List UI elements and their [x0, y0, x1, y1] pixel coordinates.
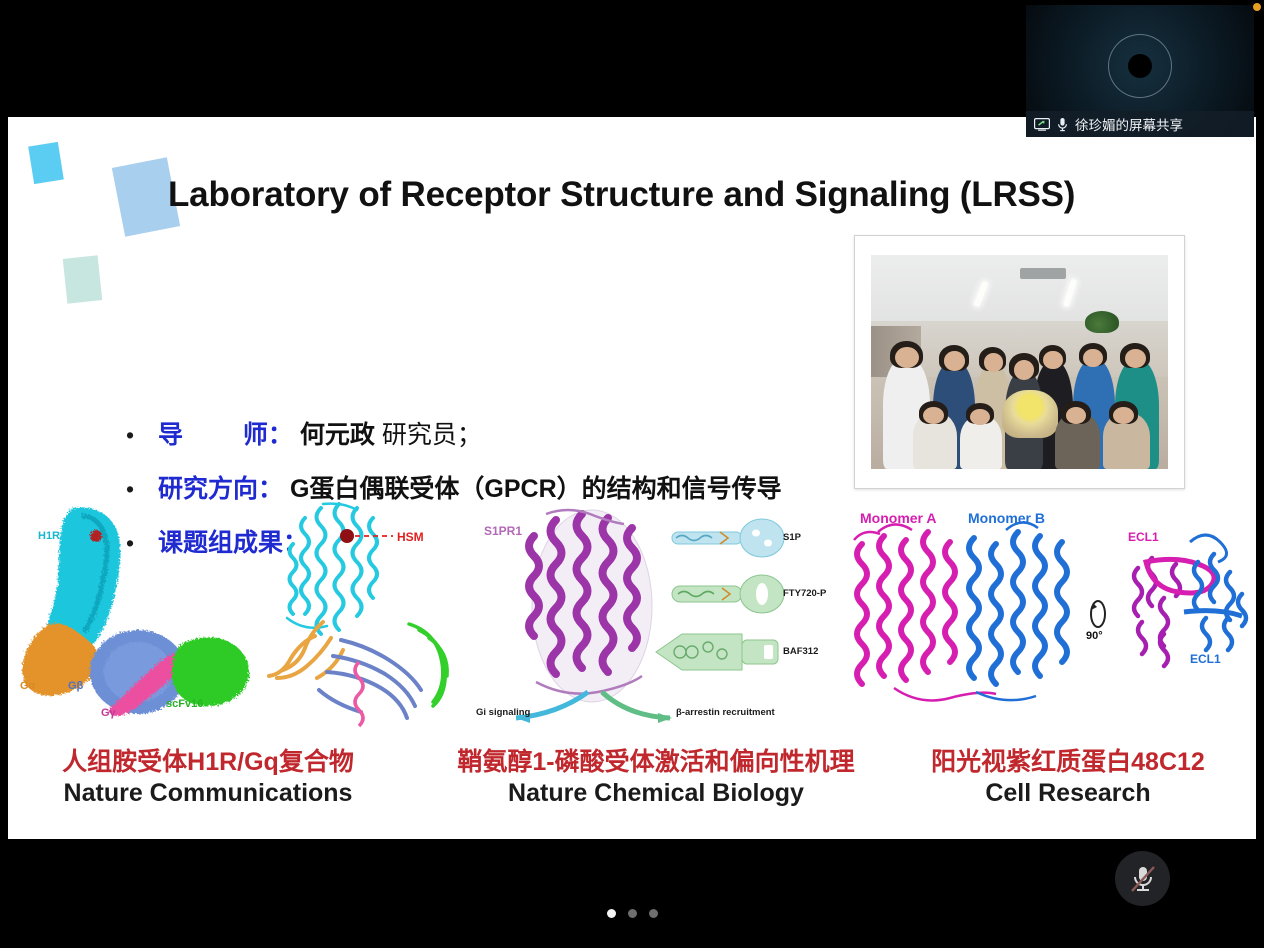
ligand-baf312 [656, 634, 778, 670]
decorative-square-cyan [28, 142, 64, 184]
advisor-name: 何元政 [300, 421, 375, 449]
figure-label-hsm: HSM [397, 530, 424, 544]
pagination-dot-3[interactable] [649, 909, 658, 918]
caption-journal-en: Nature Communications [32, 778, 384, 808]
pagination-dot-1[interactable] [607, 909, 616, 918]
participant-video-tile[interactable]: 徐珍媚的屏幕共享 [1026, 5, 1254, 137]
figure-label-scfv16: scFv16 [166, 698, 203, 710]
figure-label-gbeta: Gβ [68, 680, 83, 692]
screen-share-label: 徐珍媚的屏幕共享 [1075, 114, 1183, 134]
figure-label-ggamma: Gγ [101, 707, 116, 719]
figure-label-ecl1-a: ECL1 [1128, 530, 1159, 544]
dimer-graphic [846, 502, 1256, 730]
caption-publication-3: 阳光视紫红质蛋白48C12 Cell Research [898, 748, 1238, 808]
screen-share-window: Laboratory of Receptor Structure and Sig… [0, 0, 1264, 948]
figure-label-barrestin: β-arrestin recruitment [676, 707, 775, 718]
figure-label-h1r: H1R [38, 530, 60, 542]
caption-title-cn: 人组胺受体H1R/Gq复合物 [32, 748, 384, 778]
figure-label-ecl1-b: ECL1 [1190, 652, 1221, 666]
bullet-marker: • [126, 424, 158, 447]
figure-h1r-gq-cryoem-map: H1R Gα Gβ Gγ scFv16 [16, 502, 266, 732]
caption-publication-1: 人组胺受体H1R/Gq复合物 Nature Communications [32, 748, 384, 808]
slide-title: Laboratory of Receptor Structure and Sig… [168, 175, 1198, 215]
screen-share-status-bar: 徐珍媚的屏幕共享 [1026, 111, 1254, 137]
caption-title-cn: 鞘氨醇1-磷酸受体激活和偏向性机理 [438, 748, 874, 778]
pagination-dots[interactable] [0, 909, 1264, 918]
figure-label-monomer-b: Monomer B [968, 510, 1045, 526]
presentation-slide: Laboratory of Receptor Structure and Sig… [8, 117, 1256, 839]
ligand-fty720p [672, 575, 784, 613]
figures-row: H1R Gα Gβ Gγ scFv16 [8, 492, 1256, 730]
mute-toggle-button[interactable] [1115, 851, 1170, 906]
caption-publication-2: 鞘氨醇1-磷酸受体激活和偏向性机理 Nature Chemical Biolog… [438, 748, 874, 808]
figure-s1pr1-bias-signaling: S1PR1 S1P FTY720-P BAF312 Gi signaling β… [476, 502, 846, 730]
caption-journal-en: Cell Research [898, 778, 1238, 808]
group-photo-image [871, 255, 1168, 469]
figure-label-galpha: Gα [20, 680, 35, 692]
figure-label-fty720p: FTY720-P [783, 588, 826, 599]
figure-label-monomer-a: Monomer A [860, 510, 936, 526]
ribbon-model-graphic [263, 500, 493, 732]
ligand-s1p [672, 519, 784, 557]
figure-h1r-gq-ribbon-model: HSM [263, 500, 493, 732]
decorative-square-mint [63, 255, 103, 303]
figure-label-gi-signaling: Gi signaling [476, 707, 530, 718]
advisor-title: 研究员； [382, 421, 482, 449]
bullet-label-advisor: 导 [158, 421, 183, 449]
pagination-dot-2[interactable] [628, 909, 637, 918]
bullet-label-advisor-suffix: 师： [243, 421, 293, 449]
figure-rhodopsin-dimer: Monomer A Monomer B 90° ECL1 ECL1 [846, 502, 1256, 730]
recording-indicator [1253, 3, 1261, 11]
caption-journal-en: Nature Chemical Biology [438, 778, 874, 808]
screen-share-icon [1034, 118, 1050, 131]
avatar [1109, 35, 1171, 97]
figure-label-baf312: BAF312 [783, 646, 818, 657]
figure-label-rotation-90: 90° [1086, 630, 1103, 642]
caption-title-cn: 阳光视紫红质蛋白48C12 [898, 748, 1238, 778]
figure-label-s1p: S1P [783, 532, 801, 543]
bullet-item-advisor: • 导 师： 何元政 研究员； [126, 415, 482, 451]
group-photo-frame [854, 235, 1185, 489]
microphone-muted-icon [1129, 864, 1157, 894]
figure-label-s1pr1: S1PR1 [484, 524, 522, 538]
microphone-icon [1057, 117, 1068, 132]
